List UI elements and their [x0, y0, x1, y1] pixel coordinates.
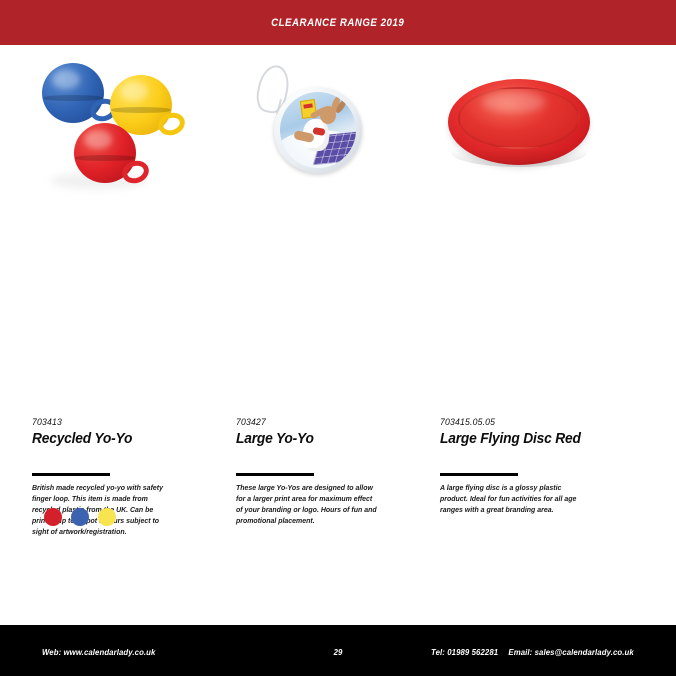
page-footer: Web: www.calendarlady.co.uk 29 Tel: 0198… — [0, 625, 676, 676]
product-grid: 703413 Recycled Yo-Yo British made recyc… — [0, 45, 676, 625]
product-image-recycled-yo-yo — [32, 45, 214, 350]
colour-swatch-group — [44, 508, 116, 526]
product-card-large-yo-yo[interactable]: 703427 Large Yo-Yo These large Yo-Yos ar… — [236, 45, 440, 625]
header-title: CLEARANCE RANGE 2019 — [271, 17, 404, 29]
product-title: Recycled Yo-Yo — [32, 431, 226, 447]
product-code: 703413 — [32, 417, 228, 427]
footer-email[interactable]: Email: sales@calendarlady.co.uk — [509, 647, 634, 657]
divider-rule — [236, 473, 314, 476]
swatch-yellow[interactable] — [98, 508, 116, 526]
product-title: Large Yo-Yo — [236, 431, 430, 447]
product-card-large-flying-disc-red[interactable]: 703415.05.05 Large Flying Disc Red A lar… — [440, 45, 644, 625]
product-info: 703415.05.05 Large Flying Disc Red A lar… — [440, 417, 644, 515]
product-info: 703427 Large Yo-Yo These large Yo-Yos ar… — [236, 417, 440, 526]
product-description: These large Yo-Yos are designed to allow… — [236, 482, 377, 527]
large-yoyo-icon — [274, 87, 362, 173]
product-description: A large flying disc is a glossy plastic … — [440, 482, 581, 515]
divider-rule — [440, 473, 518, 476]
footer-page-number: 29 — [334, 647, 343, 657]
product-code: 703427 — [236, 417, 432, 427]
yoyo-red-icon — [74, 123, 136, 183]
product-title: Large Flying Disc Red — [440, 431, 634, 447]
swatch-red[interactable] — [44, 508, 62, 526]
footer-website[interactable]: Web: www.calendarlady.co.uk — [42, 647, 155, 657]
yoyo-blue-icon — [42, 63, 104, 123]
swatch-blue[interactable] — [71, 508, 89, 526]
product-code: 703415.05.05 — [440, 417, 636, 427]
flying-disc-icon — [448, 79, 590, 165]
footer-telephone[interactable]: Tel: 01989 562281 — [431, 647, 498, 657]
catalogue-page: CLEARANCE RANGE 2019 — [0, 0, 676, 676]
page-header: CLEARANCE RANGE 2019 — [0, 0, 676, 45]
product-image-large-flying-disc — [440, 45, 622, 350]
divider-rule — [32, 473, 110, 476]
product-card-recycled-yo-yo[interactable]: 703413 Recycled Yo-Yo British made recyc… — [32, 45, 236, 625]
product-image-large-yo-yo — [236, 45, 418, 350]
